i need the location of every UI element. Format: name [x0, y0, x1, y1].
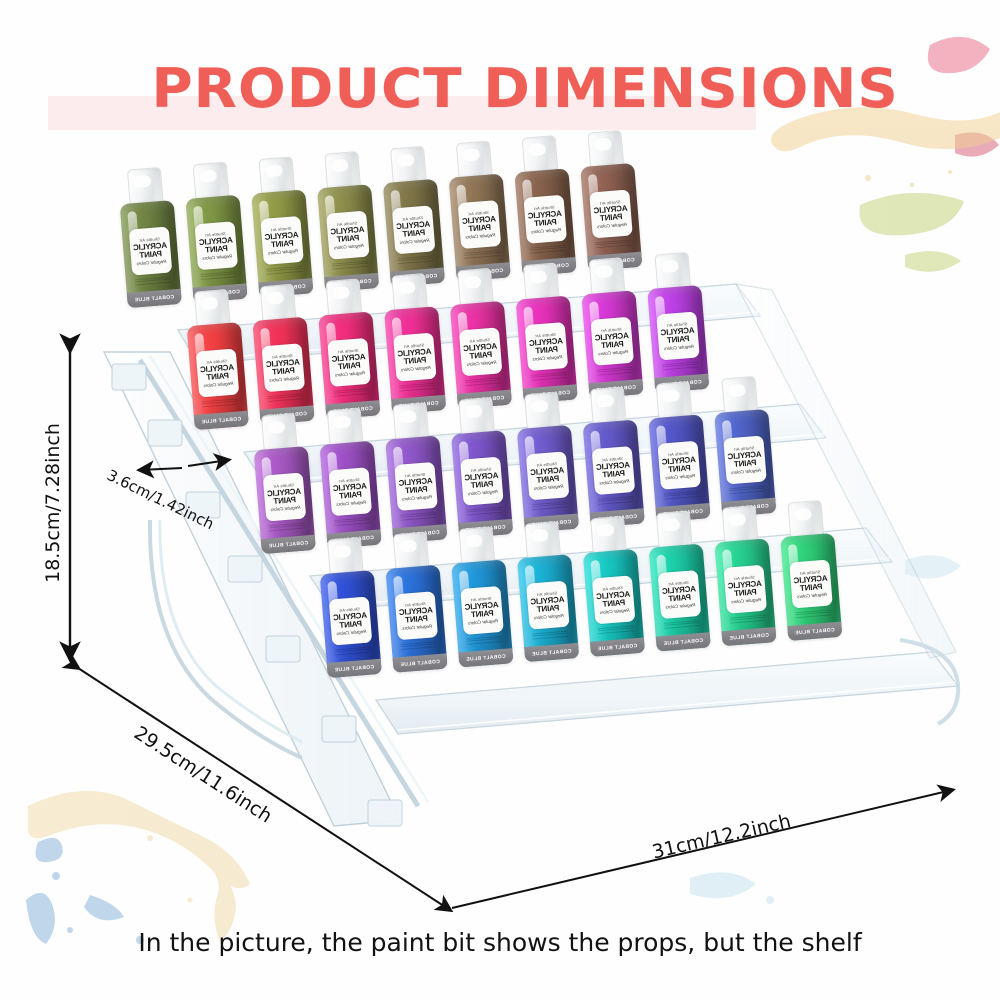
bottle-label: Shuttle ArtACRYLICPAINTRegular Colors	[723, 435, 767, 484]
bottle-label: Shuttle ArtACRYLICPAINTRegular Colors	[459, 327, 503, 376]
bottle-fineprint	[400, 510, 437, 527]
bottle-color-name: COBALT BLUE	[268, 540, 308, 549]
bottle-body: Shuttle ArtACRYLICPAINTRegular ColorsCOB…	[583, 420, 645, 528]
paint-bottle: Shuttle ArtACRYLICPAINTRegular ColorsCOB…	[250, 283, 315, 425]
paint-bottle: Shuttle ArtACRYLICPAINTRegular ColorsCOB…	[449, 526, 514, 668]
paint-bottle: Shuttle ArtACRYLICPAINTRegular ColorsCOB…	[317, 536, 382, 678]
bottle-body: Shuttle ArtACRYLICPAINTRegular ColorsCOB…	[385, 435, 447, 543]
label-line-3: Regular Colors	[335, 370, 365, 377]
label-line-3: Regular Colors	[334, 243, 364, 250]
label-line-3: Regular Colors	[203, 381, 233, 388]
bottle-body: Shuttle ArtACRYLICPAINTRegular ColorsCOB…	[187, 322, 249, 430]
label-line-3: Regular Colors	[401, 365, 431, 372]
bottle-cap	[258, 156, 295, 195]
page-title: PRODUCT DIMENSIONS	[78, 62, 972, 116]
bottle-label: Shuttle ArtACRYLICPAINTRegular Colors	[195, 221, 239, 270]
bottle-cap	[458, 526, 495, 565]
bottle-fineprint	[529, 243, 566, 260]
bottle-label: Shuttle ArtACRYLICPAINTRegular Colors	[129, 226, 173, 275]
bottle-fineprint	[466, 505, 503, 522]
bottle-fineprint	[466, 634, 503, 651]
label-line-3: Regular Colors	[599, 608, 629, 615]
bottle-label: Shuttle ArtACRYLICPAINTRegular Colors	[592, 575, 636, 624]
bottle-label: Shuttle ArtACRYLICPAINTRegular Colors	[723, 565, 767, 614]
bottle-fineprint	[399, 381, 436, 398]
bottle-label: Shuttle ArtACRYLICPAINTRegular Colors	[395, 591, 439, 640]
bottle-body: Shuttle ArtACRYLICPAINTRegular ColorsCOB…	[714, 409, 776, 517]
bottle-label: Shuttle ArtACRYLICPAINTRegular Colors	[460, 457, 504, 506]
bottle-body: Shuttle ArtACRYLICPAINTRegular ColorsCOB…	[581, 290, 643, 398]
bottle-body: Shuttle ArtACRYLICPAINTRegular ColorsCOB…	[383, 179, 445, 287]
bottle-cap	[590, 386, 627, 425]
bottle-label: Shuttle ArtACRYLICPAINTRegular Colors	[327, 338, 371, 387]
bottle-label: Shuttle ArtACRYLICPAINTRegular Colors	[525, 322, 569, 371]
bottle-color-name-band: COBALT BLUE	[722, 627, 777, 646]
label-line-3: Regular Colors	[270, 505, 300, 512]
bottle-body: Shuttle ArtACRYLICPAINTRegular ColorsCOB…	[517, 554, 579, 662]
bottle-label: Shuttle ArtACRYLICPAINTRegular Colors	[592, 446, 636, 495]
bottle-label: Shuttle ArtACRYLICPAINTRegular Colors	[526, 451, 570, 500]
bottle-body: Shuttle ArtACRYLICPAINTRegular ColorsCOB…	[780, 533, 842, 641]
bottle-fineprint	[269, 520, 306, 537]
bottle-label: Shuttle ArtACRYLICPAINTRegular Colors	[260, 216, 304, 265]
paint-bottle: Shuttle ArtACRYLICPAINTRegular ColorsCOB…	[117, 166, 182, 308]
bottle-fineprint	[596, 365, 633, 382]
bottle-fineprint	[729, 613, 766, 630]
paint-bottle: Shuttle ArtACRYLICPAINTRegular ColorsCOB…	[711, 375, 776, 517]
bottle-color-name-band: COBALT BLUE	[127, 289, 182, 308]
label-line-3: Regular Colors	[534, 613, 564, 620]
label-line-3: Regular Colors	[465, 232, 495, 239]
paint-bottle: Shuttle ArtACRYLICPAINTRegular ColorsCOB…	[184, 288, 249, 430]
bottle-label: Shuttle ArtACRYLICPAINTRegular Colors	[523, 195, 567, 244]
bottle-fineprint	[202, 396, 239, 413]
paint-bottle: Shuttle ArtACRYLICPAINTRegular ColorsCOB…	[777, 499, 842, 641]
bottle-color-name-band: COBALT BLUE	[393, 653, 448, 672]
bottle-label: Shuttle ArtACRYLICPAINTRegular Colors	[460, 586, 504, 635]
bottle-fineprint	[464, 248, 501, 265]
bottle-body: Shuttle ArtACRYLICPAINTRegular ColorsCOB…	[714, 538, 776, 646]
bottle-body: Shuttle ArtACRYLICPAINTRegular ColorsCOB…	[514, 168, 576, 276]
bottle-cap	[327, 537, 364, 576]
bottle-body: Shuttle ArtACRYLICPAINTRegular ColorsCOB…	[647, 285, 709, 393]
bottle-label: Shuttle ArtACRYLICPAINTRegular Colors	[393, 333, 437, 382]
bottle-fineprint	[332, 259, 369, 276]
bottle-color-name-band: COBALT BLUE	[458, 648, 513, 667]
bottle-color-name: COBALT BLUE	[201, 416, 241, 425]
height-dimension-label: 18.5cm/7.28inch	[42, 388, 64, 618]
bottle-body: Shuttle ArtACRYLICPAINTRegular ColorsCOB…	[319, 441, 381, 549]
label-line-3: Regular Colors	[268, 248, 298, 255]
label-line-3: Regular Colors	[468, 489, 498, 496]
bottle-color-name: COBALT BLUE	[597, 643, 637, 652]
paint-bottle: Shuttle ArtACRYLICPAINTRegular ColorsCOB…	[580, 515, 645, 657]
bottle-cap	[656, 510, 693, 549]
bottle-fineprint	[200, 269, 237, 286]
bottle-label: Shuttle ArtACRYLICPAINTRegular Colors	[329, 596, 373, 645]
paint-bottle: Shuttle ArtACRYLICPAINTRegular ColorsCOB…	[380, 145, 445, 287]
bottle-color-name-band: COBALT BLUE	[261, 535, 316, 554]
bottle-cap	[721, 376, 758, 415]
bottle-fineprint	[398, 253, 435, 270]
bottle-cap	[590, 516, 627, 555]
bottle-label: Shuttle ArtACRYLICPAINTRegular Colors	[326, 211, 370, 260]
label-line-3: Regular Colors	[531, 227, 561, 234]
paint-bottle: Shuttle ArtACRYLICPAINTRegular ColorsCOB…	[712, 504, 777, 646]
paint-bottle: Shuttle ArtACRYLICPAINTRegular ColorsCOB…	[383, 531, 448, 673]
bottle-body: Shuttle ArtACRYLICPAINTRegular ColorsCOB…	[449, 174, 511, 282]
paint-bottle: Shuttle ArtACRYLICPAINTRegular ColorsCOB…	[448, 396, 513, 538]
bottle-body: Shuttle ArtACRYLICPAINTRegular ColorsCOB…	[649, 544, 711, 652]
label-line-3: Regular Colors	[599, 478, 629, 485]
bottle-fineprint	[598, 623, 635, 640]
bottle-fineprint	[663, 489, 700, 506]
label-line-3: Regular Colors	[336, 629, 366, 636]
bottle-body: Shuttle ArtACRYLICPAINTRegular ColorsCOB…	[583, 549, 645, 657]
label-line-3: Regular Colors	[468, 618, 498, 625]
bottle-body: Shuttle ArtACRYLICPAINTRegular ColorsCOB…	[317, 184, 379, 292]
bottle-cap	[325, 278, 362, 317]
bottle-fineprint	[531, 370, 568, 387]
label-line-3: Regular Colors	[598, 349, 628, 356]
bottle-cap	[456, 140, 493, 179]
paint-bottle: Shuttle ArtACRYLICPAINTRegular ColorsCOB…	[183, 161, 248, 303]
bottle-label: Shuttle ArtACRYLICPAINTRegular Colors	[329, 467, 373, 516]
bottle-label: Shuttle ArtACRYLICPAINTRegular Colors	[590, 317, 634, 366]
bottle-body: Shuttle ArtACRYLICPAINTRegular ColorsCOB…	[252, 317, 314, 425]
bottle-cap	[393, 532, 430, 571]
bottle-label: Shuttle ArtACRYLICPAINTRegular Colors	[262, 343, 306, 392]
bottle-cap	[656, 381, 693, 420]
bottle-body: Shuttle ArtACRYLICPAINTRegular ColorsCOB…	[320, 570, 382, 678]
label-line-3: Regular Colors	[336, 499, 366, 506]
bottle-cap	[260, 284, 297, 323]
paint-bottle: Shuttle ArtACRYLICPAINTRegular ColorsCOB…	[646, 380, 711, 522]
paint-bottle: Shuttle ArtACRYLICPAINTRegular ColorsCOB…	[513, 262, 578, 404]
paint-bottle: Shuttle ArtACRYLICPAINTRegular ColorsCOB…	[644, 251, 709, 393]
label-line-3: Regular Colors	[136, 259, 166, 266]
bottle-label: Shuttle ArtACRYLICPAINTRegular Colors	[458, 200, 502, 249]
bottle-label: Shuttle ArtACRYLICPAINTRegular Colors	[394, 462, 438, 511]
label-line-3: Regular Colors	[402, 623, 432, 630]
bottle-color-name-band: COBALT BLUE	[787, 622, 842, 641]
bottle-cap	[787, 500, 824, 539]
paint-bottle: Shuttle ArtACRYLICPAINTRegular ColorsCOB…	[514, 391, 579, 533]
bottle-color-name: COBALT BLUE	[334, 664, 374, 673]
bottle-label: Shuttle ArtACRYLICPAINTRegular Colors	[658, 570, 702, 619]
label-line-3: Regular Colors	[731, 597, 761, 604]
bottle-body: Shuttle ArtACRYLICPAINTRegular ColorsCOB…	[451, 430, 513, 538]
bottle-cap	[392, 402, 429, 441]
label-line-3: Regular Colors	[797, 592, 827, 599]
bottle-color-name: COBALT BLUE	[663, 637, 703, 646]
bottle-cap	[589, 257, 626, 296]
bottle-cap	[458, 397, 495, 436]
label-line-3: Regular Colors	[532, 354, 562, 361]
label-line-3: Regular Colors	[466, 360, 496, 367]
bottle-cap	[524, 392, 561, 431]
bottle-cap	[324, 151, 361, 190]
bottle-cap	[261, 413, 298, 452]
label-line-3: Regular Colors	[202, 253, 232, 260]
bottle-fineprint	[795, 607, 832, 624]
paint-bottle: Shuttle ArtACRYLICPAINTRegular ColorsCOB…	[314, 150, 379, 292]
bottle-body: Shuttle ArtACRYLICPAINTRegular ColorsCOB…	[120, 200, 182, 308]
bottle-fineprint	[334, 515, 371, 532]
bottle-cap	[390, 146, 427, 185]
bottle-body: Shuttle ArtACRYLICPAINTRegular ColorsCOB…	[517, 425, 579, 533]
bottle-label: Shuttle ArtACRYLICPAINTRegular Colors	[526, 581, 570, 630]
bottle-body: Shuttle ArtACRYLICPAINTRegular ColorsCOB…	[384, 306, 446, 414]
paint-bottle: Shuttle ArtACRYLICPAINTRegular ColorsCOB…	[512, 134, 577, 276]
bottle-cap	[587, 130, 624, 169]
bottle-cap	[457, 268, 494, 307]
paint-bottle: Shuttle ArtACRYLICPAINTRegular ColorsCOB…	[249, 156, 314, 298]
bottle-body: Shuttle ArtACRYLICPAINTRegular ColorsCOB…	[451, 559, 513, 667]
bottle-color-name-band: COBALT BLUE	[194, 411, 249, 430]
caption-text: In the picture, the paint bit shows the …	[0, 928, 1000, 957]
bottle-color-name-band: COBALT BLUE	[590, 638, 645, 657]
bottle-body: Shuttle ArtACRYLICPAINTRegular ColorsCOB…	[318, 311, 380, 419]
bottle-fineprint	[532, 629, 569, 646]
bottle-fineprint	[595, 237, 632, 254]
bottle-label: Shuttle ArtACRYLICPAINTRegular Colors	[392, 205, 436, 254]
paint-bottle: Shuttle ArtACRYLICPAINTRegular ColorsCOB…	[446, 140, 511, 282]
label-line-3: Regular Colors	[731, 468, 761, 475]
bottle-body: Shuttle ArtACRYLICPAINTRegular ColorsCOB…	[516, 296, 578, 404]
bottle-fineprint	[267, 391, 304, 408]
paint-bottle: Shuttle ArtACRYLICPAINTRegular ColorsCOB…	[577, 129, 642, 271]
bottle-color-name-band: COBALT BLUE	[327, 659, 382, 678]
bottle-body: Shuttle ArtACRYLICPAINTRegular ColorsCOB…	[648, 414, 710, 522]
bottle-cap	[654, 252, 691, 291]
bottle-body: Shuttle ArtACRYLICPAINTRegular ColorsCOB…	[185, 195, 247, 303]
bottle-color-name: COBALT BLUE	[532, 648, 572, 657]
paint-bottle: Shuttle ArtACRYLICPAINTRegular ColorsCOB…	[251, 412, 316, 554]
bottle-color-name: COBALT BLUE	[466, 653, 506, 662]
bottle-cap	[722, 505, 759, 544]
paint-bottle: Shuttle ArtACRYLICPAINTRegular ColorsCOB…	[381, 272, 446, 414]
bottle-fineprint	[266, 264, 303, 281]
bottle-color-name: COBALT BLUE	[134, 294, 174, 303]
paint-bottle: Shuttle ArtACRYLICPAINTRegular ColorsCOB…	[316, 278, 381, 420]
bottle-cap	[522, 135, 559, 174]
label-line-3: Regular Colors	[402, 494, 432, 501]
bottle-fineprint	[664, 618, 701, 635]
paint-bottle: Shuttle ArtACRYLICPAINTRegular ColorsCOB…	[646, 510, 711, 652]
label-line-3: Regular Colors	[665, 602, 695, 609]
bottle-body: Shuttle ArtACRYLICPAINTRegular ColorsCOB…	[580, 163, 642, 271]
label-line-3: Regular Colors	[533, 484, 563, 491]
label-line-3: Regular Colors	[665, 473, 695, 480]
bottle-cap	[523, 262, 560, 301]
bottle-label: Shuttle ArtACRYLICPAINTRegular Colors	[789, 559, 833, 608]
bottle-fineprint	[598, 494, 635, 511]
bottle-color-name: COBALT BLUE	[400, 658, 440, 667]
bottle-body: Shuttle ArtACRYLICPAINTRegular ColorsCOB…	[251, 189, 313, 297]
bottle-cap	[194, 289, 231, 328]
paint-bottle: Shuttle ArtACRYLICPAINTRegular ColorsCOB…	[514, 520, 579, 662]
bottle-color-name-band: COBALT BLUE	[524, 643, 579, 662]
bottle-cap	[391, 273, 428, 312]
label-line-3: Regular Colors	[269, 375, 299, 382]
bottle-fineprint	[662, 359, 699, 376]
bottle-fineprint	[400, 639, 437, 656]
bottle-color-name-band: COBALT BLUE	[656, 632, 711, 651]
bottle-cap	[127, 167, 164, 206]
bottle-cap	[524, 521, 561, 560]
bottle-fineprint	[333, 386, 370, 403]
bottle-color-name: COBALT BLUE	[729, 632, 769, 641]
bottle-color-name: COBALT BLUE	[795, 627, 835, 636]
bottle-label: Shuttle ArtACRYLICPAINTRegular Colors	[589, 189, 633, 238]
label-line-3: Regular Colors	[399, 238, 429, 245]
label-line-3: Regular Colors	[664, 344, 694, 351]
bottle-fineprint	[532, 499, 569, 516]
paint-bottle: Shuttle ArtACRYLICPAINTRegular ColorsCOB…	[579, 256, 644, 398]
paint-bottle: Shuttle ArtACRYLICPAINTRegular ColorsCOB…	[383, 402, 448, 544]
paint-bottle: Shuttle ArtACRYLICPAINTRegular ColorsCOB…	[317, 407, 382, 549]
bottle-label: Shuttle ArtACRYLICPAINTRegular Colors	[196, 348, 240, 397]
bottle-fineprint	[729, 483, 766, 500]
bottle-label: Shuttle ArtACRYLICPAINTRegular Colors	[263, 472, 307, 521]
bottle-body: Shuttle ArtACRYLICPAINTRegular ColorsCOB…	[254, 446, 316, 554]
paint-bottle: Shuttle ArtACRYLICPAINTRegular ColorsCOB…	[580, 386, 645, 528]
bottle-body: Shuttle ArtACRYLICPAINTRegular ColorsCOB…	[450, 301, 512, 409]
bottle-cap	[327, 408, 364, 447]
bottle-cap	[193, 162, 230, 201]
bottle-fineprint	[135, 274, 172, 291]
label-line-3: Regular Colors	[597, 222, 627, 229]
paint-bottle: Shuttle ArtACRYLICPAINTRegular ColorsCOB…	[447, 267, 512, 409]
bottle-label: Shuttle ArtACRYLICPAINTRegular Colors	[656, 311, 700, 360]
bottle-fineprint	[465, 375, 502, 392]
bottle-label: Shuttle ArtACRYLICPAINTRegular Colors	[657, 441, 701, 490]
bottle-body: Shuttle ArtACRYLICPAINTRegular ColorsCOB…	[385, 565, 447, 673]
bottle-fineprint	[335, 644, 372, 661]
